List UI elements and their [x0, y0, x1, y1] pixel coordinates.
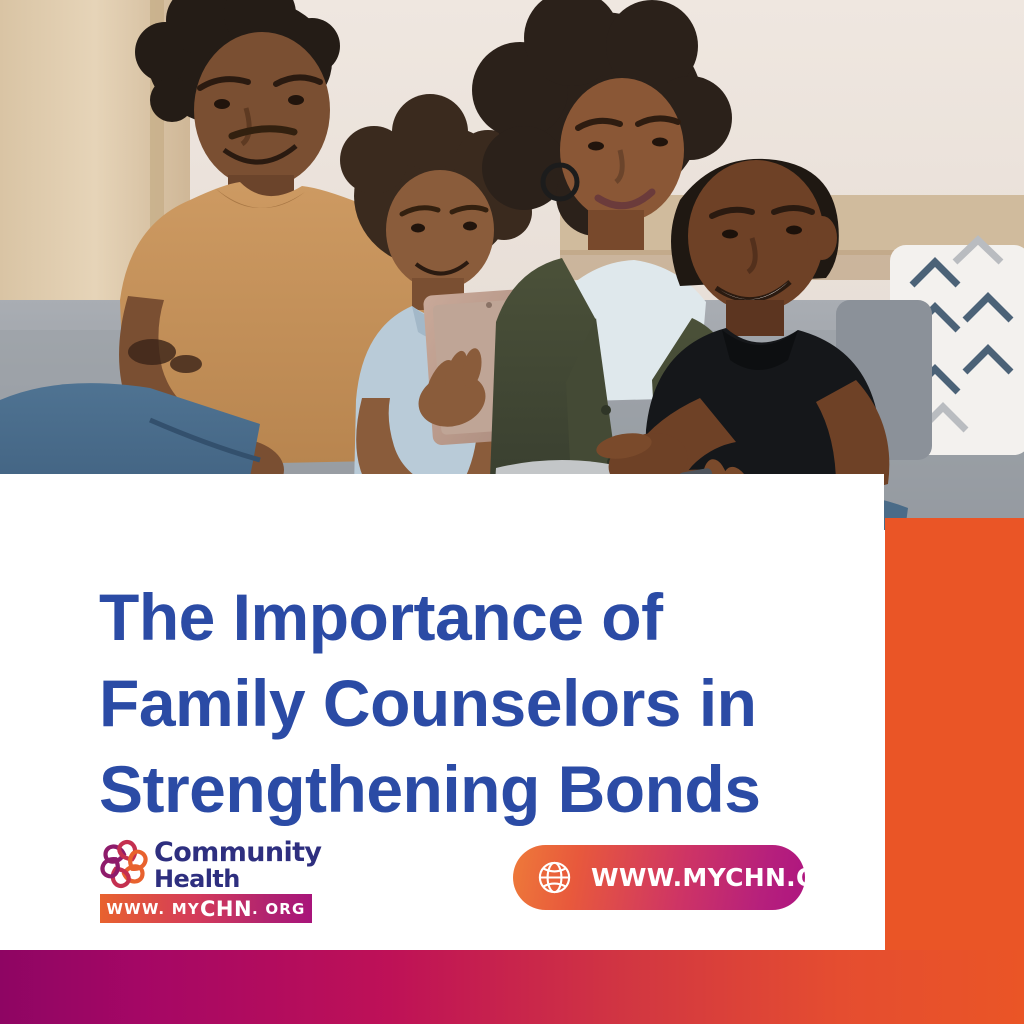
bottom-gradient-bar: [0, 950, 1024, 1024]
chn-logo[interactable]: Community Health Network WWW. MY CHN . O…: [96, 838, 316, 926]
orange-accent-panel: [885, 518, 1024, 952]
website-url-label: WWW.MYCHN.ORG: [591, 863, 858, 892]
globe-icon: [535, 858, 574, 897]
website-url-button[interactable]: WWW.MYCHN.ORG: [513, 845, 805, 910]
logo-top-row: Community Health Network: [96, 838, 316, 894]
headline-line-2: Family Counselors in: [99, 660, 859, 746]
logo-line-community: Community: [154, 840, 321, 866]
logo-url-prefix: WWW. MY: [106, 900, 200, 918]
family-photo: [0, 0, 1024, 530]
headline-line-3: Strengthening Bonds: [99, 746, 859, 832]
logo-url-bar[interactable]: WWW. MY CHN . ORG: [100, 894, 312, 923]
logo-url-suffix: . ORG: [252, 900, 306, 918]
chn-flower-heart-logo-icon: [96, 836, 152, 892]
headline-line-1: The Importance of: [99, 574, 859, 660]
social-media-poster: The Importance of Family Counselors in S…: [0, 0, 1024, 1024]
logo-url-emphasis: CHN: [200, 897, 252, 921]
page-title: The Importance of Family Counselors in S…: [99, 574, 859, 832]
